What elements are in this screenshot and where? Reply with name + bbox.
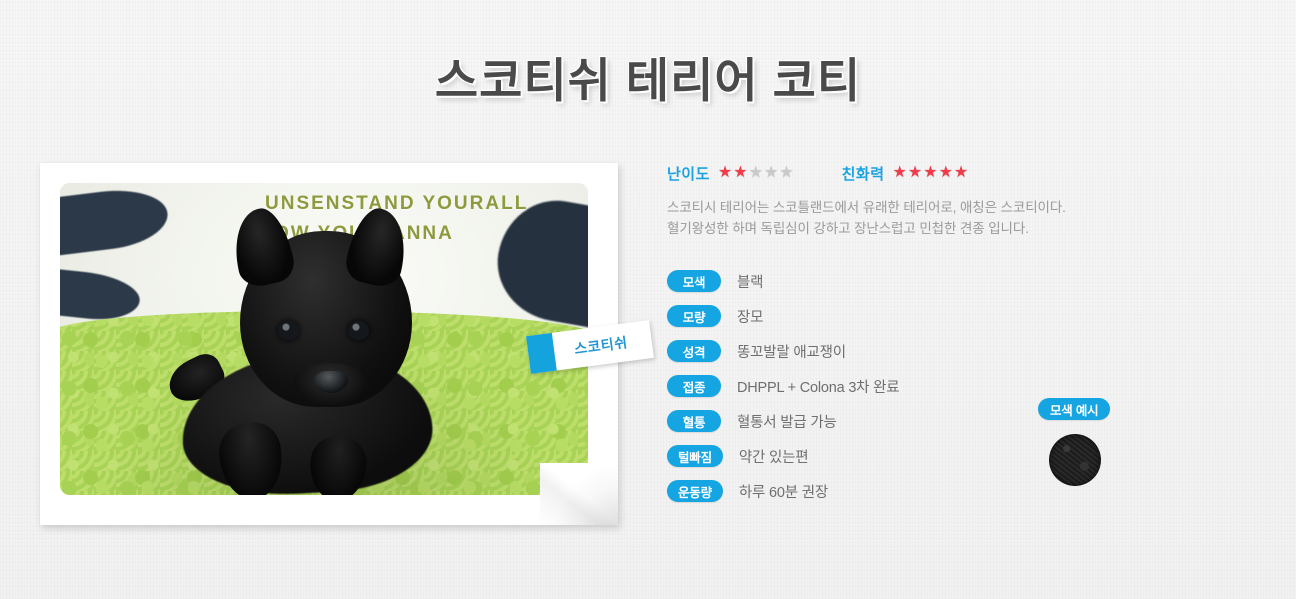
rating-label-friendliness: 친화력 <box>842 163 885 184</box>
star-icon: ★ <box>893 165 907 181</box>
puppy-ear-left <box>226 204 298 291</box>
spec-value: 똥꼬발랄 애교쟁이 <box>737 341 846 362</box>
spec-label-badge: 털빠짐 <box>667 445 723 467</box>
spec-label-badge: 접종 <box>667 375 721 397</box>
puppy-illustration <box>182 205 472 495</box>
spec-value: 블랙 <box>737 271 763 292</box>
star-icon: ★ <box>749 165 763 181</box>
spec-label-badge: 성격 <box>667 340 721 362</box>
puppy-eye-right <box>348 321 369 340</box>
coat-sample-badge: 모색 예시 <box>1038 398 1110 420</box>
rating-stars-difficulty: ★★★★★ <box>718 165 794 181</box>
star-icon: ★ <box>923 165 937 181</box>
star-icon: ★ <box>954 165 968 181</box>
spec-value: DHPPL + Colona 3차 완료 <box>737 376 899 397</box>
spec-value: 혈통서 발급 가능 <box>737 411 837 432</box>
puppy-ear-right <box>342 204 414 291</box>
star-icon: ★ <box>908 165 922 181</box>
puppy-eye-left <box>278 321 299 340</box>
spec-label-badge: 모량 <box>667 305 721 327</box>
rating-label-difficulty: 난이도 <box>667 163 710 184</box>
spec-label-badge: 운동량 <box>667 480 723 502</box>
page-title: 스코티쉬 테리어 코티 <box>0 42 1296 111</box>
star-icon: ★ <box>718 165 732 181</box>
ribbon-label: 스코티쉬 <box>553 329 653 362</box>
puppy-front-leg-right <box>308 435 368 495</box>
coat-color-sample: 모색 예시 <box>1038 398 1188 486</box>
spec-row: 모색 블랙 <box>667 264 1267 299</box>
spec-label-badge: 혈통 <box>667 410 721 432</box>
puppy-photo: UNSENSTAND YOURALL OW YOU WANNA YOUR WAN… <box>60 183 588 495</box>
spec-row: 모량 장모 <box>667 299 1267 334</box>
breed-description: 스코티시 테리어는 스코틀랜드에서 유래한 테리어로, 애칭은 스코티이다. 혈… <box>667 198 1267 240</box>
spec-label-badge: 모색 <box>667 270 721 292</box>
coat-color-swatch <box>1049 434 1101 486</box>
spec-value: 장모 <box>737 306 763 327</box>
ribbon-color-block <box>526 333 557 374</box>
description-line-2: 혈기왕성한 하며 독립심이 강하고 장난스럽고 민첩한 견종 입니다. <box>667 219 1267 240</box>
ratings-row: 난이도 ★★★★★ 친화력 ★★★★★ <box>667 160 1267 186</box>
breed-profile-page: 스코티쉬 테리어 코티 UNSENSTAND YOURALL OW YOU WA… <box>0 0 1296 599</box>
spec-row: 성격 똥꼬발랄 애교쟁이 <box>667 334 1267 369</box>
spec-value: 약간 있는편 <box>739 446 809 467</box>
star-icon: ★ <box>733 165 747 181</box>
spec-value: 하루 60분 권장 <box>739 481 828 502</box>
star-icon: ★ <box>764 165 778 181</box>
description-line-1: 스코티시 테리어는 스코틀랜드에서 유래한 테리어로, 애칭은 스코티이다. <box>667 198 1267 219</box>
star-icon: ★ <box>939 165 953 181</box>
star-icon: ★ <box>779 165 793 181</box>
rating-stars-friendliness: ★★★★★ <box>893 165 969 181</box>
